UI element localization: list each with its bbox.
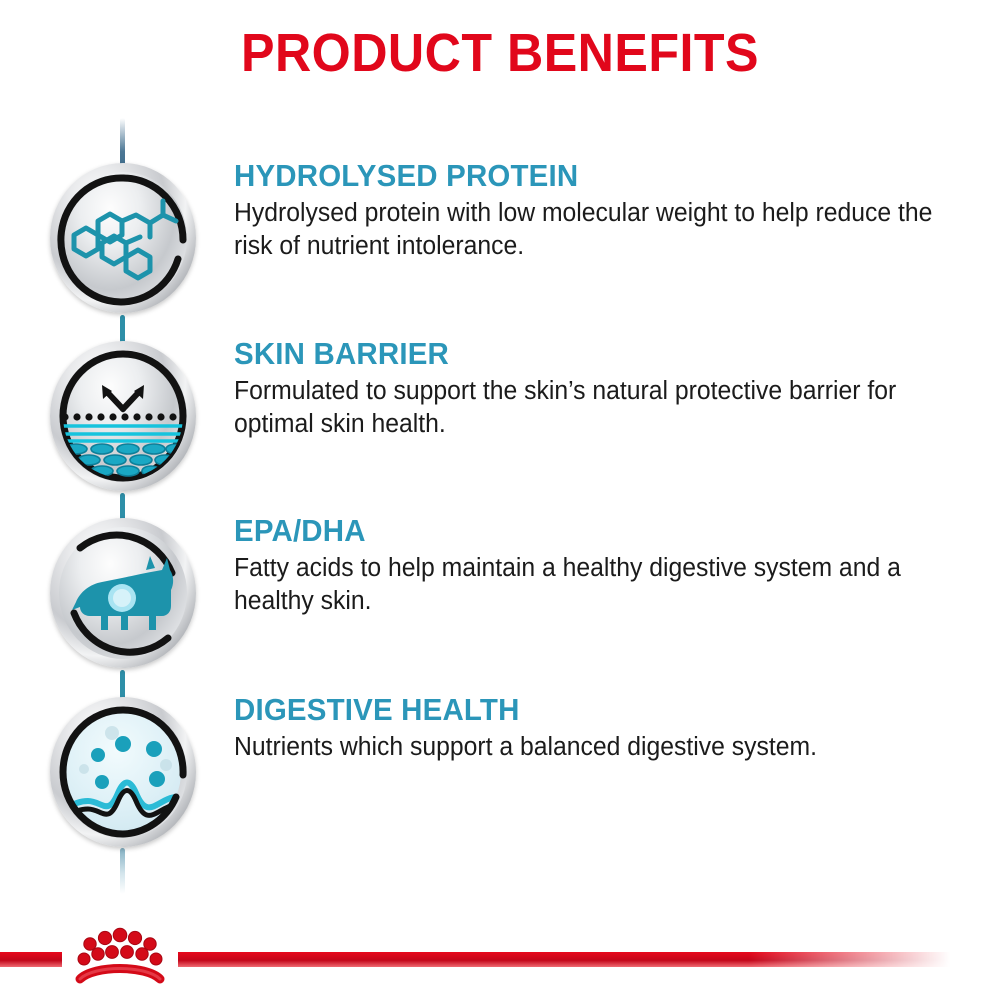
benefit-icon-badge-1 [50,163,196,313]
product-benefits-infographic: PRODUCT BENEFITS [0,0,1000,1000]
benefit-row-skin-barrier: SKIN BARRIER Formulated to support the s… [0,338,1000,498]
connector-line-bottom [120,848,125,894]
benefit-body-1: Hydrolysed protein with low molecular we… [234,197,952,262]
molecule-icon [50,163,196,313]
benefit-text-3: EPA/DHA Fatty acids to help maintain a h… [234,515,974,617]
royal-canin-crown-logo [68,927,172,989]
benefit-row-hydrolysed-protein: HYDROLYSED PROTEIN Hydrolysed protein wi… [0,160,1000,320]
red-bar-left [0,952,62,967]
benefit-body-2: Formulated to support the skin’s natural… [234,375,952,440]
benefit-row-digestive-health: DIGESTIVE HEALTH Nutrients which support… [0,694,1000,854]
benefit-text-4: DIGESTIVE HEALTH Nutrients which support… [234,694,974,764]
page-title: PRODUCT BENEFITS [35,22,965,84]
cat-icon [50,518,196,668]
benefit-text-2: SKIN BARRIER Formulated to support the s… [234,338,974,440]
red-bar-right [178,952,950,967]
benefit-body-3: Fatty acids to help maintain a healthy d… [234,552,952,617]
connector-line-top [120,118,125,166]
benefit-heading-3: EPA/DHA [234,515,937,546]
digestive-wave-icon [50,697,196,847]
benefit-text-1: HYDROLYSED PROTEIN Hydrolysed protein wi… [234,160,974,262]
benefit-body-4: Nutrients which support a balanced diges… [234,731,952,764]
benefit-row-epa-dha: EPA/DHA Fatty acids to help maintain a h… [0,515,1000,675]
skin-barrier-icon [50,341,196,491]
benefit-icon-badge-2 [50,341,196,491]
benefit-heading-4: DIGESTIVE HEALTH [234,694,937,725]
benefit-heading-2: SKIN BARRIER [234,338,937,369]
benefit-icon-badge-3 [50,518,196,668]
benefit-heading-1: HYDROLYSED PROTEIN [234,160,937,191]
brand-footer [0,930,1000,1000]
benefit-icon-badge-4 [50,697,196,847]
